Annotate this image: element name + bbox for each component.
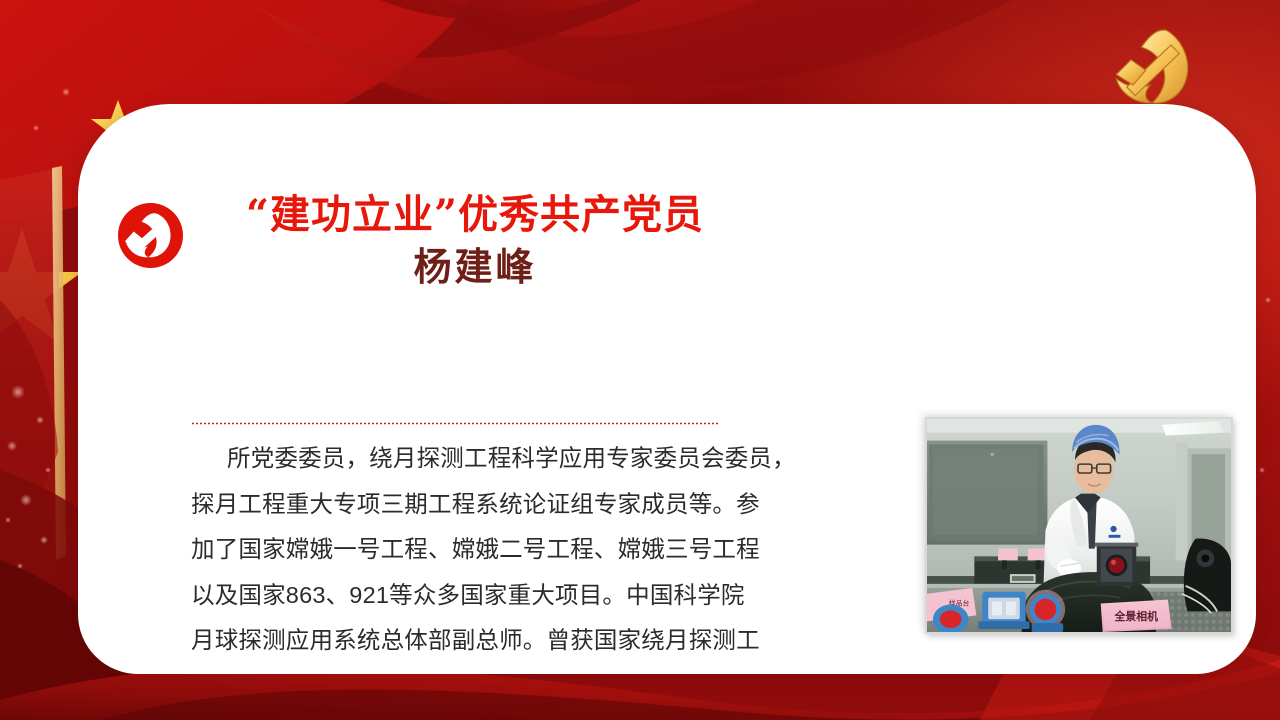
body-line: 所党委委员，绕月探测工程科学应用专家委员会委员，	[191, 436, 903, 482]
person-name: 杨建峰	[200, 242, 750, 292]
biography-text: 所党委委员，绕月探测工程科学应用专家委员会委员， 探月工程重大专项三期工程系统论…	[191, 436, 903, 674]
content-card: “建功立业”优秀共产党员 杨建峰 所党委委员，绕月探测工程科学应用专家委员会委员…	[78, 104, 1256, 674]
laboratory-photo-frame: 全景相机 样品台	[925, 417, 1233, 634]
body-line: 以及国家863、921等众多国家重大项目。中国科学院	[191, 573, 903, 619]
photo-caption-text: 全景相机	[1114, 609, 1159, 623]
laboratory-photo: 全景相机 样品台	[927, 419, 1231, 632]
body-line: 加了国家嫦娥一号工程、嫦娥二号工程、嫦娥三号工程	[191, 527, 903, 573]
slide-background: “建功立业”优秀共产党员 杨建峰 所党委委员，绕月探测工程科学应用专家委员会委员…	[0, 0, 1280, 720]
party-emblem-icon	[117, 202, 184, 269]
body-line: 月球探测应用系统总体部副总师。曾获国家绕月探测工	[191, 618, 903, 664]
body-line: 程立项突出贡献人员等荣誉称号。	[191, 664, 903, 675]
body-line: 探月工程重大专项三期工程系统论证组专家成员等。参	[191, 482, 903, 528]
header: “建功立业”优秀共产党员 杨建峰	[96, 188, 756, 308]
photo-caption-sign: 全景相机	[1101, 600, 1172, 632]
page-title: “建功立业”优秀共产党员	[200, 188, 750, 242]
title-block: “建功立业”优秀共产党员 杨建峰	[200, 188, 750, 292]
dotted-divider	[191, 422, 719, 425]
